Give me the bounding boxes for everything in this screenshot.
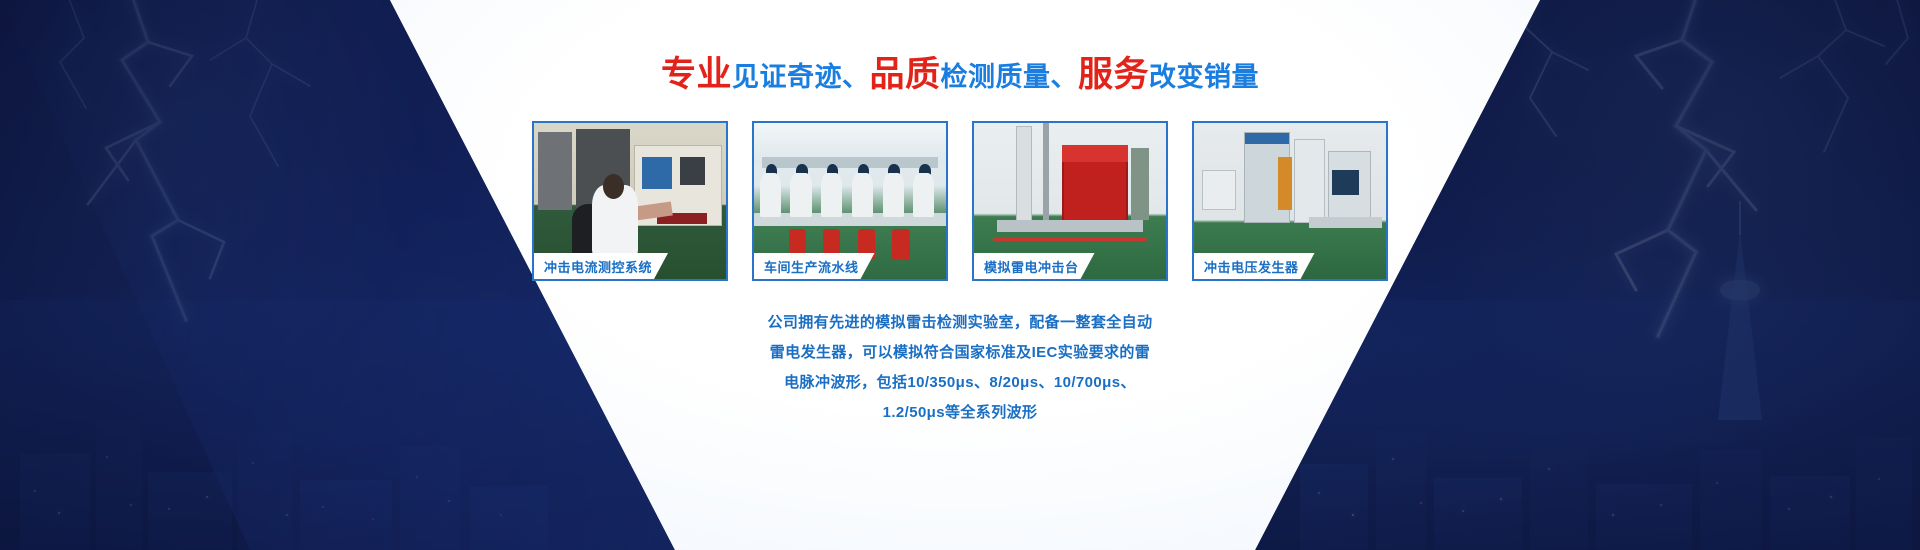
photo-card-3[interactable]: 模拟雷电冲击台 [972,121,1168,281]
photo-caption-2: 车间生产流水线 [754,253,875,279]
photo-caption-1: 冲击电流测控系统 [534,253,668,279]
photo-card-2[interactable]: 车间生产流水线 [752,121,948,281]
page-title: 专业见证奇迹、品质检测质量、服务改变销量 [0,46,1920,97]
photo-card-strip: 冲击电流测控系统 车间生产流水线 模拟雷电冲击台 [0,121,1920,281]
description-line-1: 公司拥有先进的模拟雷击检测实验室，配备一整套全自动 [680,308,1240,338]
description-line-4: 1.2/50μs等全系列波形 [680,398,1240,428]
description-paragraph: 公司拥有先进的模拟雷击检测实验室，配备一整套全自动 雷电发生器，可以模拟符合国家… [680,308,1240,428]
headline-segment-1: 专业 [661,55,732,94]
lightning-test-lab-banner: 专业见证奇迹、品质检测质量、服务改变销量 冲击电流测控系统 [0,0,1920,550]
headline-segment-4: 检测质量、 [941,62,1079,92]
description-line-3: 电脉冲波形，包括10/350μs、8/20μs、10/700μs、 [680,368,1240,398]
description-line-2: 雷电发生器，可以模拟符合国家标准及IEC实验要求的雷 [680,338,1240,368]
headline-segment-2: 见证奇迹、 [732,62,870,92]
headline-segment-5: 服务 [1078,55,1149,94]
photo-caption-4: 冲击电压发生器 [1194,253,1315,279]
headline-segment-3: 品质 [869,55,940,94]
photo-card-4[interactable]: 冲击电压发生器 [1192,121,1388,281]
photo-card-1[interactable]: 冲击电流测控系统 [532,121,728,281]
photo-caption-3: 模拟雷电冲击台 [974,253,1095,279]
headline-segment-6: 改变销量 [1149,62,1259,92]
